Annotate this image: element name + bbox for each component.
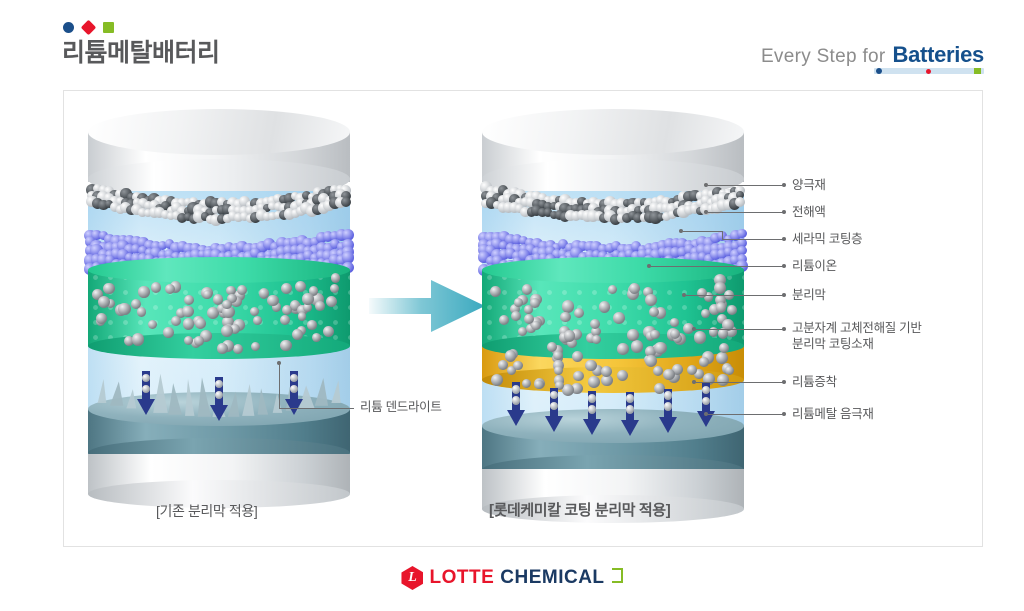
caption-coated: [롯데케미칼 코팅 분리막 적용] [489, 499, 670, 520]
particle [118, 303, 130, 315]
particle [182, 306, 193, 317]
particle [498, 360, 507, 369]
slogan-text: Every Step for [761, 46, 886, 68]
infographic-page: 리튬메탈배터리 Every Step for Batteries [0, 0, 1024, 611]
particle [250, 307, 259, 316]
particle [670, 329, 680, 339]
particle [654, 342, 666, 354]
leader-dot [782, 327, 786, 331]
particle [664, 391, 672, 399]
particle [572, 351, 583, 362]
particle [183, 318, 194, 329]
particle [151, 282, 162, 293]
particle [251, 342, 260, 351]
callout-label-separator: 분리막 [792, 287, 826, 303]
particle [588, 405, 596, 413]
particle [184, 336, 193, 345]
particle [645, 294, 657, 306]
particle [505, 350, 516, 361]
particle [714, 282, 726, 294]
particle [281, 283, 292, 294]
particle [253, 316, 262, 325]
leader-dot [782, 183, 786, 187]
particle [588, 394, 596, 402]
particle [307, 320, 317, 330]
leader-dot [782, 380, 786, 384]
red-diamond-icon [81, 20, 97, 36]
callout-label-polymer-coating-material: 고분자계 고체전해질 기반 분리막 코팅소재 [792, 320, 922, 352]
lotte-chemical-logo: L LOTTE CHEMICAL [0, 566, 1024, 590]
logo-green-bracket-icon [612, 568, 623, 583]
leader-line-horizontal [686, 295, 784, 296]
particle [103, 283, 114, 294]
leader-line-horizontal [722, 239, 784, 240]
particle [560, 312, 570, 322]
underline-green-square-icon [974, 68, 981, 74]
particle [323, 326, 335, 338]
page-title: 리튬메탈배터리 [62, 40, 220, 68]
particle [280, 340, 291, 351]
particle [137, 307, 146, 316]
particle [650, 330, 660, 340]
ion-flow-arrows-right [482, 374, 744, 444]
particle [96, 313, 107, 324]
particle [599, 301, 610, 312]
particle [312, 333, 321, 342]
callout-label-electrolyte: 전해액 [792, 204, 826, 220]
leader-line-horizontal [279, 408, 354, 409]
particle [585, 360, 597, 372]
particle [512, 396, 520, 404]
particle [203, 290, 212, 299]
header-decoration-marks [63, 22, 114, 33]
underline-blue-dot-icon [876, 68, 882, 74]
particle [629, 283, 640, 294]
particle [315, 301, 325, 311]
battery-diagram-conventional [88, 109, 350, 489]
particle [237, 285, 247, 295]
particle [138, 286, 149, 297]
particle [514, 298, 523, 307]
callout-label-lithium-deposition: 리튬증착 [792, 374, 837, 390]
particle [330, 284, 339, 293]
particle [626, 394, 634, 402]
particle [195, 318, 206, 329]
leader-line-horizontal [708, 212, 784, 213]
callout-label-lithium-ion: 리튬이온 [792, 258, 837, 274]
particle [292, 329, 303, 340]
particle [547, 342, 557, 352]
leader-dot [782, 237, 786, 241]
particle [132, 333, 144, 345]
leader-line-vertical [279, 363, 280, 409]
underline-red-dot-icon [926, 69, 931, 74]
particle [524, 314, 534, 324]
particle [592, 335, 601, 344]
leader-dot [277, 361, 281, 365]
particle [719, 343, 729, 353]
particle [280, 315, 290, 325]
particle [631, 340, 643, 352]
caption-conventional: [기존 분리막 적용] [156, 501, 257, 521]
particle [608, 285, 617, 294]
particle [490, 286, 501, 297]
leader-dot [782, 412, 786, 416]
callout-label-ceramic-coating: 세라믹 코팅층 [792, 231, 862, 247]
leader-dot [782, 210, 786, 214]
leader-dot [782, 264, 786, 268]
green-square-icon [103, 22, 114, 33]
particle [699, 357, 709, 367]
particle [562, 300, 574, 312]
particle [221, 325, 233, 337]
particle [627, 329, 639, 341]
cathode-particle-band-left [88, 181, 350, 215]
ion-flow-arrows-left [88, 359, 350, 429]
particle [664, 402, 672, 410]
cap-top-right [482, 109, 744, 155]
leader-dot [782, 293, 786, 297]
slogan-brand-word: Batteries [893, 42, 984, 68]
particle [171, 316, 181, 326]
particle [716, 352, 728, 364]
particle [670, 318, 679, 327]
particle [326, 296, 337, 307]
particle [499, 315, 509, 325]
particle [522, 284, 532, 294]
particle [331, 273, 340, 282]
particle [553, 351, 563, 361]
particle [512, 385, 520, 393]
particle [727, 305, 737, 315]
separator-particles-right [482, 270, 744, 390]
particle [194, 336, 204, 346]
leader-line-horizontal [683, 231, 723, 232]
diagram-panel: 리튬 덴드라이트 양극재 전해액 세라믹 코팅층 [63, 90, 983, 547]
particle [511, 311, 521, 321]
callout-label-dendrite: 리튬 덴드라이트 [360, 399, 442, 415]
brand-slogan: Every Step for Batteries [761, 42, 984, 68]
particle [524, 305, 533, 314]
particle [574, 308, 584, 318]
transition-arrow-icon [369, 276, 489, 336]
particle [233, 344, 243, 354]
leader-line-horizontal [696, 382, 784, 383]
particle [701, 309, 710, 318]
particle [737, 229, 746, 238]
brand-underline-bar [874, 68, 984, 74]
particle [217, 343, 227, 353]
callout-label-cathode: 양극재 [792, 177, 826, 193]
particle [617, 343, 629, 355]
callout-label-lithium-metal-anode: 리튬메탈 음극재 [792, 406, 874, 422]
particle [697, 288, 707, 298]
base-bottom-left [88, 535, 350, 565]
particle [735, 197, 746, 208]
leader-line-horizontal [651, 266, 784, 267]
particle [163, 327, 174, 338]
particle [694, 331, 706, 343]
particle [148, 320, 158, 330]
logo-word-chemical: CHEMICAL [500, 567, 604, 589]
particle [341, 197, 351, 207]
particle [298, 312, 307, 321]
leader-line-horizontal [708, 185, 784, 186]
particle [613, 312, 625, 324]
logo-word-lotte: LOTTE [429, 567, 494, 589]
leader-line-horizontal [708, 414, 784, 415]
particle [295, 281, 307, 293]
leader-line-horizontal [696, 329, 784, 330]
battery-diagram-coated [482, 109, 744, 489]
particle [302, 293, 313, 304]
particle [282, 305, 292, 315]
lotte-badge-icon: L [401, 566, 423, 590]
particle [513, 361, 522, 370]
blue-circle-icon [63, 22, 74, 33]
particle [184, 295, 194, 305]
particle [590, 319, 600, 329]
particle [716, 302, 727, 313]
particle [222, 300, 232, 310]
particle [165, 284, 175, 294]
particle [626, 405, 634, 413]
separator-particles-left [88, 270, 350, 350]
cap-top-left [88, 109, 350, 155]
